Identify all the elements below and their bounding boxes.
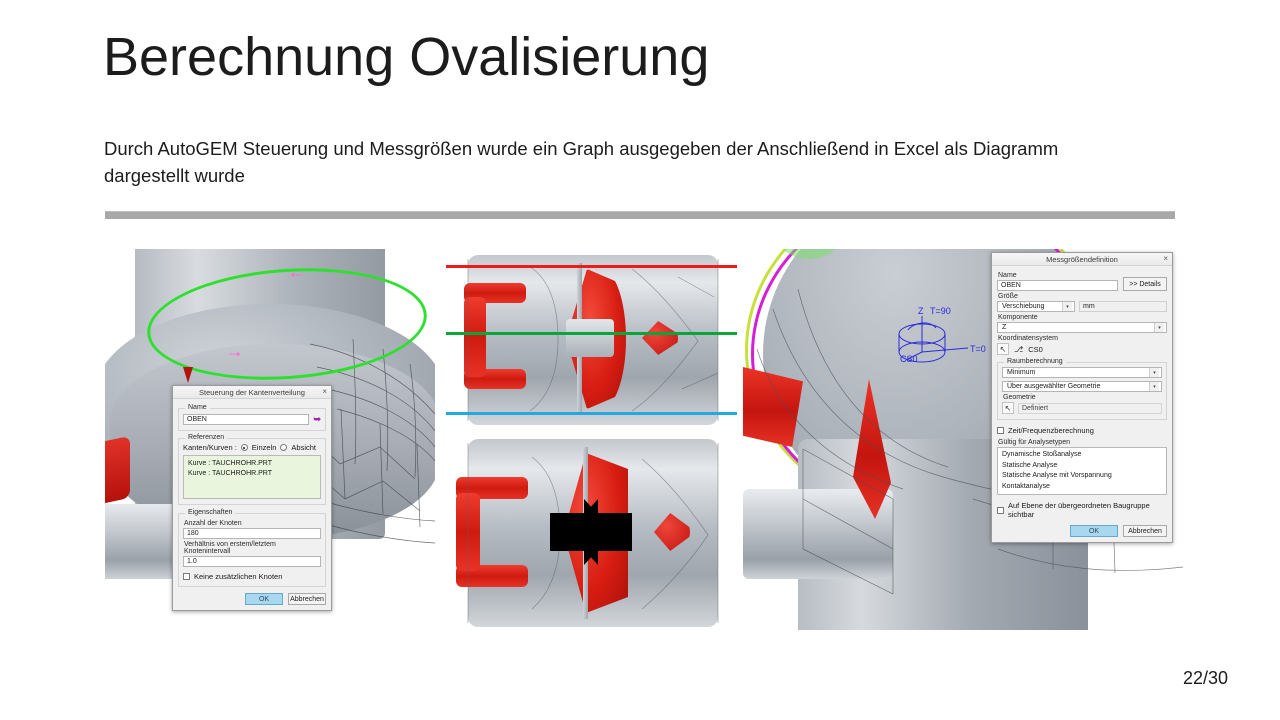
select-geometry-icon[interactable]: ↖ bbox=[1002, 402, 1014, 414]
page-title: Berechnung Ovalisierung bbox=[103, 28, 709, 87]
ok-button[interactable]: OK bbox=[1070, 525, 1118, 537]
close-icon[interactable]: × bbox=[322, 387, 327, 396]
cad-screenshot-load-arrows bbox=[446, 437, 737, 630]
list-item[interactable]: Dynamische Stoßanalyse bbox=[1002, 450, 1162, 461]
spatial-group: Raumberechnung Minimum ▾ Über ausgewählt… bbox=[997, 362, 1167, 420]
valid-analysis-label: Gültig für Analysetypen bbox=[998, 439, 1167, 446]
coordinate-system-widget: Z T=90 T=0 CS0 bbox=[888, 304, 998, 374]
ratio-label: Verhältnis von erstem/letztem Knoteninte… bbox=[184, 541, 321, 555]
geometry-label: Geometrie bbox=[1003, 394, 1162, 401]
dialog-title-text: Steuerung der Kantenverteilung bbox=[199, 388, 305, 397]
references-group: Referenzen Kanten/Kurven : Einzeln Absic… bbox=[178, 438, 326, 505]
node-count-input[interactable]: 180 bbox=[183, 528, 321, 539]
guide-line-green bbox=[446, 332, 737, 335]
ok-button[interactable]: OK bbox=[245, 593, 283, 605]
guide-line-blue bbox=[446, 412, 737, 415]
csys-theta90-label: T=90 bbox=[930, 306, 951, 316]
cad-screenshot-edge-distribution: ← ← Steuerung der Kantenverteilung × Nam… bbox=[105, 249, 435, 630]
analysis-type-list[interactable]: Dynamische Stoßanalyse Statische Analyse… bbox=[997, 447, 1167, 495]
slide-subtitle: Durch AutoGEM Steuerung und Messgrößen w… bbox=[104, 136, 1134, 190]
cancel-button[interactable]: Abbrechen bbox=[1123, 525, 1167, 537]
csys-glyph-icon: ⎇ bbox=[1014, 345, 1023, 354]
load-arrows bbox=[446, 437, 737, 630]
time-frequency-checkbox[interactable] bbox=[997, 427, 1004, 434]
geometry-value: Definiert bbox=[1018, 403, 1162, 414]
flip-direction-icon[interactable]: ➥ bbox=[313, 414, 321, 425]
radio-intent[interactable] bbox=[280, 444, 287, 451]
edges-curves-label: Kanten/Kurven : bbox=[183, 443, 237, 452]
size-select[interactable]: Verschiebung ▾ bbox=[997, 301, 1075, 312]
component-select[interactable]: Z ▾ bbox=[997, 322, 1167, 333]
list-item[interactable]: Kurve : TAUCHROHR.PRT bbox=[188, 459, 316, 469]
horizontal-divider bbox=[105, 211, 1175, 219]
no-extra-nodes-checkbox[interactable] bbox=[183, 573, 190, 580]
direction-arrow-top: ← bbox=[287, 263, 306, 282]
radio-single[interactable] bbox=[241, 444, 248, 451]
ratio-input[interactable]: 1.0 bbox=[183, 556, 321, 567]
csys-axis-z-label: Z bbox=[918, 306, 924, 316]
dialog-title-text: Messgrößendefinition bbox=[1046, 255, 1118, 264]
cad-screenshot-measure-definition: Z T=90 T=0 CS0 Messgrößendefinition × Na… bbox=[743, 249, 1202, 630]
name-label: Name bbox=[998, 272, 1118, 279]
csys-theta0-label: T=0 bbox=[970, 344, 986, 354]
size-label: Größe bbox=[998, 293, 1167, 300]
valve-outline bbox=[446, 249, 737, 431]
spatial-scope-value: Über ausgewählter Geometrie bbox=[1007, 383, 1100, 390]
chevron-down-icon[interactable]: ▾ bbox=[1062, 302, 1072, 311]
spatial-label: Raumberechnung bbox=[1004, 358, 1066, 365]
no-extra-nodes-label[interactable]: Keine zusätzlichen Knoten bbox=[194, 572, 282, 581]
unit-display: mm bbox=[1079, 301, 1167, 312]
dialog-edge-distribution[interactable]: Steuerung der Kantenverteilung × Name OB… bbox=[172, 385, 332, 611]
chevron-down-icon[interactable]: ▾ bbox=[1149, 368, 1159, 377]
select-cursor-icon[interactable]: ↖ bbox=[997, 343, 1009, 355]
spatial-scope-select[interactable]: Über ausgewählter Geometrie ▾ bbox=[1002, 381, 1162, 392]
name-input[interactable]: OBEN bbox=[183, 414, 309, 425]
list-item[interactable]: Kontaktanalyse bbox=[1002, 482, 1162, 493]
red-highlight-region bbox=[105, 436, 130, 504]
arrow-left bbox=[568, 499, 632, 565]
list-item[interactable]: Kurve : TAUCHROHR.PRT bbox=[188, 469, 316, 479]
dialog-titlebar: Messgrößendefinition × bbox=[992, 253, 1172, 266]
details-button[interactable]: >> Details bbox=[1123, 277, 1167, 291]
name-input[interactable]: OBEN bbox=[997, 280, 1118, 291]
time-frequency-label[interactable]: Zeit/Frequenzberechnung bbox=[1008, 426, 1094, 435]
component-label: Komponente bbox=[998, 314, 1167, 321]
guide-line-red bbox=[446, 265, 737, 268]
coordsys-label: Koordinatensystem bbox=[998, 335, 1167, 342]
spatial-value: Minimum bbox=[1007, 369, 1035, 376]
direction-arrow-bottom: ← bbox=[225, 347, 244, 366]
references-label: Referenzen bbox=[185, 434, 227, 441]
close-icon[interactable]: × bbox=[1163, 254, 1168, 263]
name-label: Name bbox=[185, 404, 210, 411]
chevron-down-icon[interactable]: ▾ bbox=[1149, 382, 1159, 391]
node-count-label: Anzahl der Knoten bbox=[184, 520, 321, 527]
list-item[interactable]: Statische Analyse mit Vorspannung bbox=[1002, 471, 1162, 482]
coordsys-value: CS0 bbox=[1028, 345, 1043, 354]
cad-screenshot-section-guides bbox=[446, 249, 737, 431]
properties-label: Eigenschaften bbox=[185, 509, 235, 516]
visible-parent-assembly-checkbox[interactable] bbox=[997, 507, 1004, 514]
list-item[interactable]: Statische Analyse bbox=[1002, 461, 1162, 472]
name-group: Name OBEN ➥ bbox=[178, 408, 326, 431]
radio-intent-label[interactable]: Absicht bbox=[291, 443, 316, 452]
radio-single-label[interactable]: Einzeln bbox=[252, 443, 277, 452]
chevron-down-icon[interactable]: ▾ bbox=[1154, 323, 1164, 332]
visible-parent-assembly-label[interactable]: Auf Ebene der übergeordneten Baugruppe s… bbox=[1008, 501, 1167, 519]
csys-name-label: CS0 bbox=[900, 354, 918, 364]
properties-group: Eigenschaften Anzahl der Knoten 180 Verh… bbox=[178, 513, 326, 587]
spatial-select[interactable]: Minimum ▾ bbox=[1002, 367, 1162, 378]
curve-list[interactable]: Kurve : TAUCHROHR.PRT Kurve : TAUCHROHR.… bbox=[183, 455, 321, 499]
page-number: 22/30 bbox=[1183, 668, 1228, 689]
component-value: Z bbox=[1002, 324, 1006, 331]
size-value: Verschiebung bbox=[1002, 303, 1044, 310]
dialog-titlebar: Steuerung der Kantenverteilung × bbox=[173, 386, 331, 399]
cancel-button[interactable]: Abbrechen bbox=[288, 593, 326, 605]
dialog-measure-definition[interactable]: Messgrößendefinition × Name OBEN >> Deta… bbox=[991, 252, 1173, 543]
